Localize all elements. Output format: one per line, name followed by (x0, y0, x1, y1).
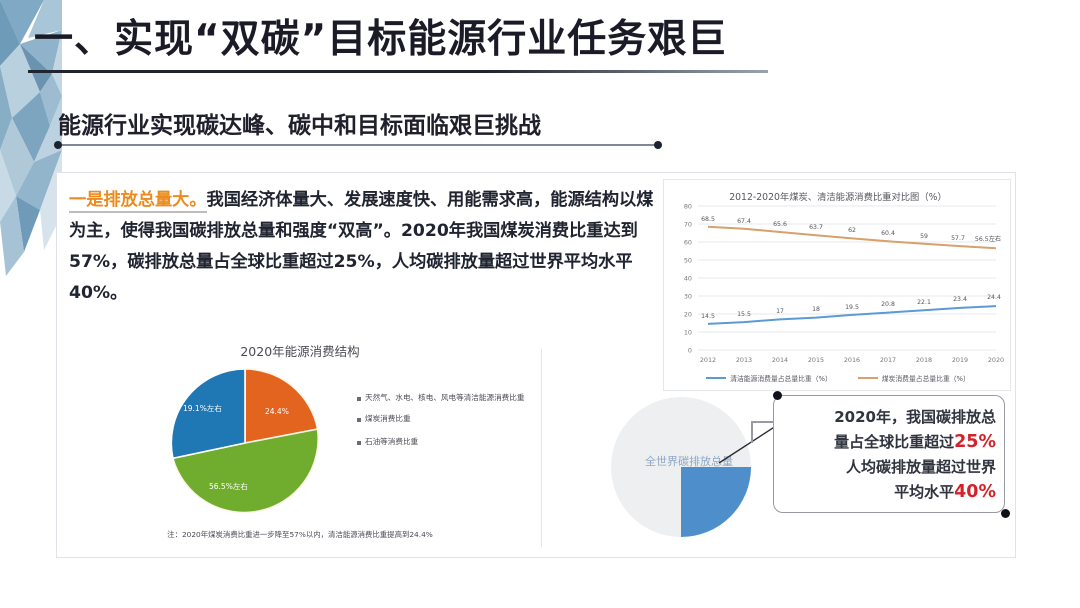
svg-text:20: 20 (684, 311, 692, 319)
svg-text:17: 17 (776, 308, 784, 315)
legend-marker-icon (357, 418, 361, 422)
subtitle-text: 能源行业实现碳达峰、碳中和目标面临艰巨挑战 (58, 106, 678, 140)
svg-text:24.4: 24.4 (987, 294, 1001, 301)
legend-marker-icon (357, 397, 361, 401)
pie-slice-label-green: 56.5%左右 (209, 481, 248, 492)
svg-text:2017: 2017 (880, 356, 896, 364)
svg-text:14.5: 14.5 (701, 313, 715, 320)
svg-text:2014: 2014 (772, 356, 788, 364)
svg-text:18: 18 (812, 306, 820, 313)
pie-chart-panel: 2020年能源消费结构 24.4% 56.5%左右 19.1%左右 天然气、水电… (65, 341, 535, 551)
subtitle-dot-right (654, 141, 662, 149)
callout-dot-bottom-right (1001, 509, 1010, 518)
svg-text:50: 50 (684, 257, 692, 265)
legend-item-clean-energy-line: 清洁能源消费量占总量比重（%） (706, 373, 832, 383)
svg-text:57.7: 57.7 (951, 235, 965, 242)
paragraph-highlight: 一是排放总量大。 (69, 190, 207, 213)
svg-text:2012: 2012 (700, 356, 716, 364)
svg-text:30: 30 (684, 293, 692, 301)
svg-text:80: 80 (684, 203, 692, 211)
callout-line-2-pre: 量占全球比重超过 (834, 433, 954, 451)
legend-label: 煤炭消费量占总量比重（%） (882, 373, 970, 383)
svg-text:65.6: 65.6 (773, 221, 787, 228)
title-underline (28, 70, 768, 73)
legend-label: 清洁能源消费量占总量比重（%） (730, 373, 832, 383)
legend-marker-icon (357, 441, 361, 445)
content-card: 一是排放总量大。我国经济体量大、发展速度快、用能需求高，能源结构以煤为主，使得我… (56, 172, 1016, 558)
legend-line-marker-icon (858, 377, 878, 379)
pie-chart-legend: 天然气、水电、核电、风电等清洁能源消费比重 煤炭消费比重 石油等消费比重 (357, 393, 537, 458)
svg-text:60: 60 (684, 239, 692, 247)
callout-text: 2020年，我国碳排放总 量占全球比重超过25% 人均碳排放量超过世界 平均水平… (784, 405, 996, 505)
callout-line-3: 人均碳排放量超过世界 (846, 458, 996, 476)
svg-text:62: 62 (848, 227, 856, 234)
svg-text:2013: 2013 (736, 356, 752, 364)
svg-text:63.7: 63.7 (809, 224, 823, 231)
callout-box: 2020年，我国碳排放总 量占全球比重超过25% 人均碳排放量超过世界 平均水平… (773, 395, 1005, 513)
subtitle-underline (58, 144, 658, 146)
svg-text:22.1: 22.1 (917, 299, 931, 306)
callout-line-2-value: 25% (954, 432, 996, 452)
svg-text:19.5: 19.5 (845, 304, 859, 311)
svg-text:2018: 2018 (916, 356, 932, 364)
line-chart-legend: 清洁能源消费量占总量比重（%） 煤炭消费量占总量比重（%） (664, 373, 1012, 383)
svg-text:23.4: 23.4 (953, 296, 967, 303)
callout-line-4-pre: 平均水平 (894, 483, 954, 501)
svg-text:2020: 2020 (988, 356, 1004, 364)
page-title: 一、实现“双碳”目标能源行业任务艰巨 (34, 8, 727, 64)
callout-tail-vertical (751, 421, 753, 443)
svg-text:68.5: 68.5 (701, 216, 715, 223)
slide-header: 一、实现“双碳”目标能源行业任务艰巨 (0, 0, 1080, 90)
legend-line-marker-icon (706, 377, 726, 379)
subtitle-dot-left (54, 141, 62, 149)
legend-item-oil: 石油等消费比重 (357, 437, 537, 447)
panel-divider (541, 349, 542, 547)
line-chart-title: 2012-2020年煤炭、清洁能源消费比重对比图（%） (664, 189, 1012, 203)
callout-line-1: 2020年，我国碳排放总 (834, 408, 996, 426)
svg-text:59: 59 (920, 233, 928, 240)
line-chart-card: 2012-2020年煤炭、清洁能源消费比重对比图（%） 80 70 60 50 … (663, 179, 1011, 391)
svg-text:2019: 2019 (952, 356, 968, 364)
callout-line-4-value: 40% (954, 482, 996, 502)
svg-text:0: 0 (688, 347, 692, 355)
legend-label: 天然气、水电、核电、风电等清洁能源消费比重 (365, 393, 524, 403)
legend-label: 石油等消费比重 (365, 437, 418, 447)
svg-text:10: 10 (684, 329, 692, 337)
callout-dot-top-left (773, 391, 782, 400)
legend-item-coal: 煤炭消费比重 (357, 414, 537, 424)
svg-text:40: 40 (684, 275, 692, 283)
callout-tail-horizontal (751, 421, 775, 423)
coal-clean-energy-line-chart: 80 70 60 50 40 30 20 10 0 68.5 67.4 65.6… (664, 180, 1010, 370)
body-paragraph: 一是排放总量大。我国经济体量大、发展速度快、用能需求高，能源结构以煤为主，使得我… (69, 185, 669, 309)
subtitle-block: 能源行业实现碳达峰、碳中和目标面临艰巨挑战 (58, 106, 678, 140)
svg-text:15.5: 15.5 (737, 311, 751, 318)
legend-item-clean-energy: 天然气、水电、核电、风电等清洁能源消费比重 (357, 393, 537, 403)
svg-text:2016: 2016 (844, 356, 860, 364)
pie-slice-label-orange: 24.4% (265, 407, 289, 416)
svg-text:60.4: 60.4 (881, 230, 895, 237)
svg-text:56.5左右: 56.5左右 (975, 235, 1001, 243)
svg-text:2015: 2015 (808, 356, 824, 364)
svg-text:70: 70 (684, 221, 692, 229)
pie-chart-title: 2020年能源消费结构 (65, 341, 535, 360)
pie-chart-footnote: 注：2020年煤炭消费比重进一步降至57%以内，清洁能源消费比重提高到24.4% (65, 529, 535, 540)
energy-mix-pie-chart (147, 363, 343, 523)
svg-text:67.4: 67.4 (737, 218, 751, 225)
pie-slice-label-blue: 19.1%左右 (183, 403, 222, 414)
legend-item-coal-line: 煤炭消费量占总量比重（%） (858, 373, 970, 383)
legend-label: 煤炭消费比重 (365, 414, 411, 424)
svg-text:20.8: 20.8 (881, 301, 895, 308)
